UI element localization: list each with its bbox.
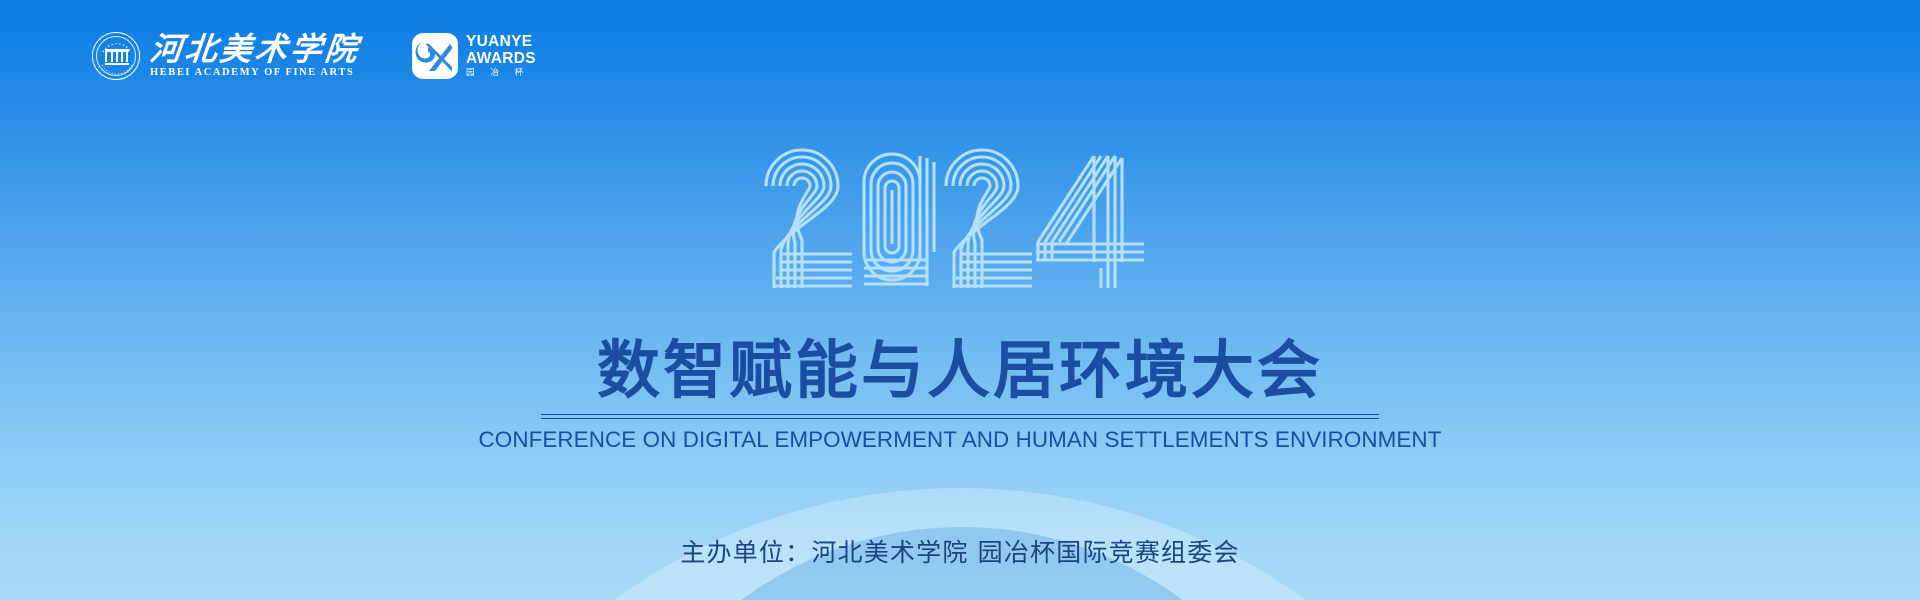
logo-row: 河北美术学院 HEBEI ACADEMY OF FINE ARTS YUANYE…	[92, 28, 536, 84]
conference-title-chinese: 数智赋能与人居环境大会	[0, 336, 1920, 405]
hebei-english-name: HEBEI ACADEMY OF FINE ARTS	[150, 68, 360, 79]
yuanye-line1: YUANYE	[466, 34, 536, 50]
title-divider	[541, 414, 1379, 419]
hebei-chinese-name: 河北美术学院	[148, 33, 361, 66]
year-graphic-2024	[760, 142, 1160, 292]
yuanye-swoosh-icon	[412, 33, 458, 79]
yuanye-wordmark: YUANYE AWARDS 园 冶 杯	[466, 34, 536, 78]
yuanye-line2: AWARDS	[466, 51, 536, 67]
gate-motif-icon	[105, 49, 129, 65]
logo-hebei-academy[interactable]: 河北美术学院 HEBEI ACADEMY OF FINE ARTS	[92, 32, 360, 80]
conference-banner: 河北美术学院 HEBEI ACADEMY OF FINE ARTS YUANYE…	[0, 0, 1920, 600]
circular-gate-seal-icon	[92, 32, 140, 80]
logo-yuanye-awards[interactable]: YUANYE AWARDS 园 冶 杯	[412, 33, 536, 79]
yuanye-line3-chinese: 园 冶 杯	[466, 69, 536, 78]
hebei-wordmark: 河北美术学院 HEBEI ACADEMY OF FINE ARTS	[150, 33, 360, 78]
organizer-line: 主办单位：河北美术学院 园冶杯国际竞赛组委会	[0, 533, 1920, 569]
title-block: 数智赋能与人居环境大会 CONFERENCE ON DIGITAL EMPOWE…	[0, 336, 1920, 453]
conference-title-english: CONFERENCE ON DIGITAL EMPOWERMENT AND HU…	[0, 427, 1920, 453]
